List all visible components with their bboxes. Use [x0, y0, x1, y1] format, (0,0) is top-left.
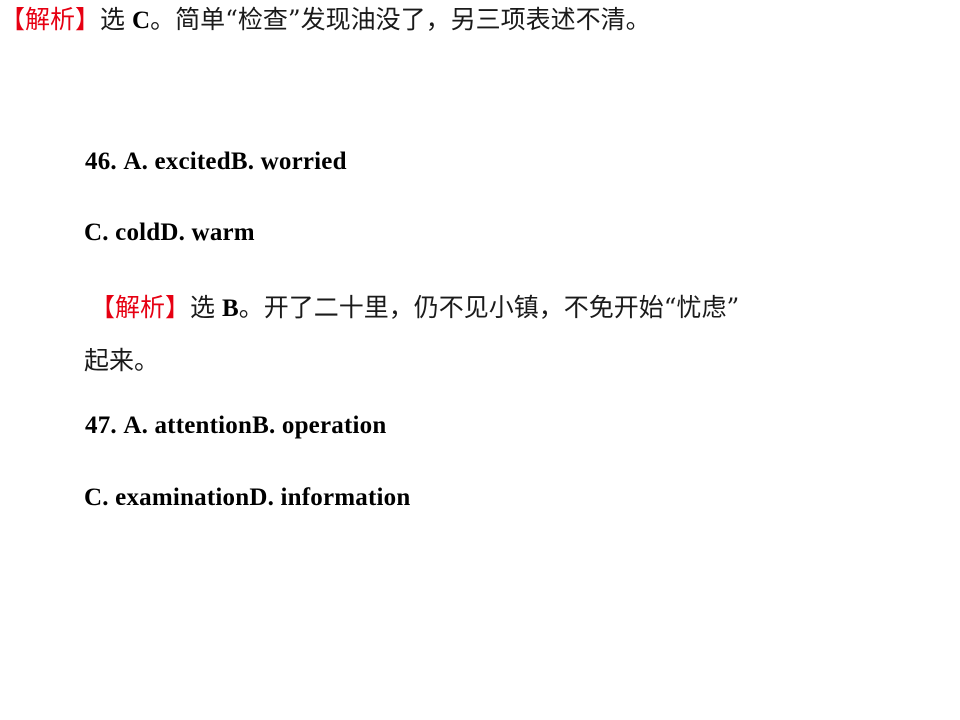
- question-46-option-b[interactable]: B. worried: [231, 148, 347, 175]
- question-46-option-a[interactable]: A. excited: [123, 148, 231, 175]
- slide-content-area: 46. A. excitedB. worried C. coldD. warm …: [0, 0, 960, 650]
- question-46-number: 46.: [85, 148, 117, 175]
- explanation-text-46-b: 起来。: [84, 346, 159, 375]
- question-46-options-cd: C. coldD. warm: [84, 219, 255, 247]
- explanation-tag: 【解析】: [90, 293, 190, 322]
- question-46-options-ab: 46. A. excitedB. worried: [85, 148, 347, 176]
- question-47-options-ab: 47. A. attentionB. operation: [85, 412, 386, 440]
- question-47-option-d[interactable]: D. information: [249, 484, 410, 511]
- explanation-text-46-a: 。开了二十里，仍不见小镇，不免开始“忧虑”: [239, 293, 740, 322]
- question-47-explanation-line-1: 【解析】选C。简单“检查”发现油没了，另三项表述不清。: [0, 0, 651, 36]
- question-47-number: 47.: [85, 412, 117, 439]
- question-47-option-b[interactable]: B. operation: [252, 412, 386, 439]
- explanation-tag: 【解析】: [0, 5, 100, 34]
- question-46-explanation-line-1: 【解析】选B。开了二十里，仍不见小镇，不免开始“忧虑”: [90, 288, 739, 324]
- question-47-answer: C: [132, 7, 150, 34]
- question-46-explanation-line-2: 起来。: [84, 341, 159, 377]
- slide-canvas: 46. A. excitedB. worried C. coldD. warm …: [0, 0, 960, 720]
- question-47-options-cd: C. examinationD. information: [84, 484, 410, 512]
- question-47-option-c[interactable]: C. examination: [84, 484, 249, 511]
- explanation-text-47-a: 。简单“检查”发现油没了，另三项表述不清。: [150, 5, 651, 34]
- question-46-answer: B: [222, 295, 239, 322]
- question-46-option-c[interactable]: C. cold: [84, 219, 160, 246]
- question-47-option-a[interactable]: A. attention: [123, 412, 252, 439]
- question-46-option-d[interactable]: D. warm: [160, 219, 254, 246]
- explanation-choose-label: 选: [100, 5, 125, 34]
- explanation-choose-label: 选: [190, 293, 215, 322]
